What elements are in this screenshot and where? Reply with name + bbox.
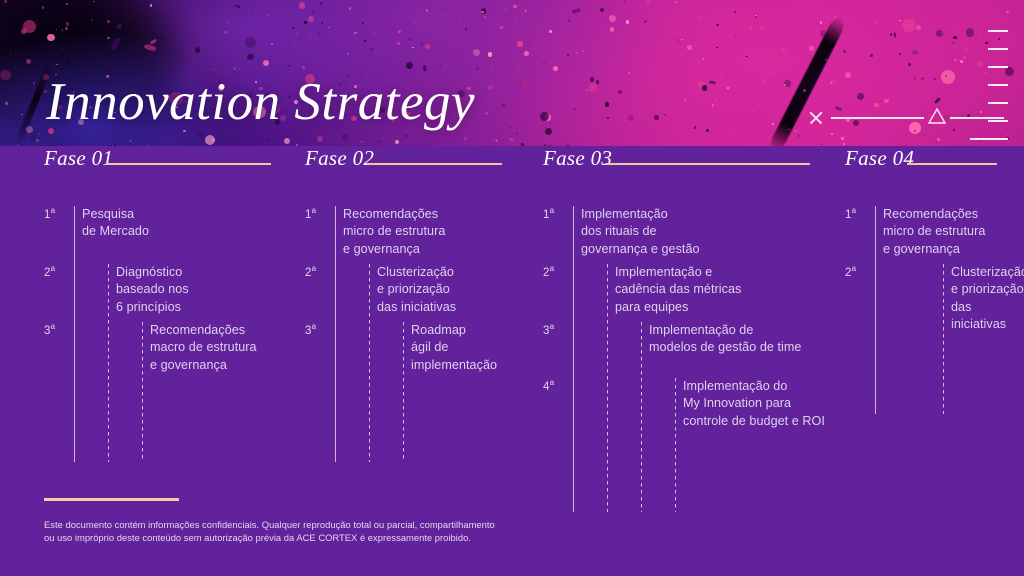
phase-item-ordinal: 2a: [845, 264, 871, 279]
ordinal-number: 2: [543, 267, 550, 279]
ordinal-number: 1: [44, 209, 51, 221]
phase-items: 1aImplementação dos rituais de governanç…: [543, 194, 843, 512]
phase-item: 3aRecomendações macro de estrutura e gov…: [44, 322, 304, 374]
ordinal-suffix: a: [852, 206, 857, 215]
phase-items: 1aRecomendações micro de estrutura e gov…: [845, 194, 1024, 414]
phase-item-text: Recomendações micro de estrutura e gover…: [343, 206, 543, 258]
phase-item: 1aImplementação dos rituais de governanç…: [543, 206, 843, 258]
phase-label: Fase 03: [543, 146, 612, 171]
ordinal-number: 3: [305, 325, 312, 337]
phase-item: 1aRecomendações micro de estrutura e gov…: [305, 206, 543, 258]
ordinal-suffix: a: [312, 322, 317, 331]
phase-item: 2aClusterização e priorização das inicia…: [845, 264, 1024, 334]
ordinal-suffix: a: [312, 264, 317, 273]
tick-marks-icon: [988, 30, 1010, 125]
ordinal-suffix: a: [852, 264, 857, 273]
footer-accent-rule: [44, 498, 179, 501]
phase-header: Fase 02: [305, 146, 543, 182]
phase-item: 1aPesquisa de Mercado: [44, 206, 304, 241]
phase-item-text: Clusterização e priorização das iniciati…: [951, 264, 1024, 334]
phase-column-3: Fase 031aImplementação dos rituais de go…: [543, 146, 843, 512]
ordinal-number: 3: [44, 325, 51, 337]
header-streak-right: [767, 15, 848, 146]
ordinal-suffix: a: [550, 264, 555, 273]
ordinal-number: 3: [543, 325, 550, 337]
phase-label: Fase 01: [44, 146, 113, 171]
ordinal-number: 2: [845, 267, 852, 279]
phase-item-text: Roadmap ágil de implementação: [411, 322, 543, 374]
phase-item: 3aImplementação de modelos de gestão de …: [543, 322, 843, 357]
phase-item: 2aDiagnóstico baseado nos 6 princípios: [44, 264, 304, 316]
phase-item-ordinal: 4a: [543, 378, 569, 393]
phase-header: Fase 04: [845, 146, 1024, 182]
page-title: Innovation Strategy: [46, 76, 475, 129]
phase-item-ordinal: 1a: [305, 206, 331, 221]
ordinal-number: 1: [845, 209, 852, 221]
ordinal-suffix: a: [51, 206, 56, 215]
ordinal-suffix: a: [312, 206, 317, 215]
presentation-slide: Innovation Strategy Fase 011aPesquisa de…: [0, 0, 1024, 576]
phase-column-1: Fase 011aPesquisa de Mercado2aDiagnóstic…: [44, 146, 304, 462]
phase-item-ordinal: 2a: [305, 264, 331, 279]
ordinal-number: 2: [44, 267, 51, 279]
phase-item-text: Clusterização e priorização das iniciati…: [377, 264, 543, 316]
phase-item-text: Recomendações macro de estrutura e gover…: [150, 322, 304, 374]
ordinal-number: 4: [543, 381, 550, 393]
phase-item-ordinal: 1a: [845, 206, 871, 221]
phase-item-ordinal: 2a: [44, 264, 70, 279]
phase-label: Fase 04: [845, 146, 914, 171]
confidentiality-notice: Este documento contém informações confid…: [44, 518, 664, 545]
ordinal-suffix: a: [550, 378, 555, 387]
triangle-outline-icon: [928, 108, 946, 123]
ordinal-number: 2: [305, 267, 312, 279]
phase-rule: [367, 163, 502, 165]
x-mark-icon: [808, 110, 824, 126]
phase-item-text: Pesquisa de Mercado: [82, 206, 304, 241]
phase-item-text: Implementação de modelos de gestão de ti…: [649, 322, 843, 357]
phase-item-ordinal: 3a: [44, 322, 70, 337]
phase-rule: [106, 163, 271, 165]
ordinal-number: 1: [305, 209, 312, 221]
phase-label: Fase 02: [305, 146, 374, 171]
phase-item: 3aRoadmap ágil de implementação: [305, 322, 543, 374]
phase-items: 1aRecomendações micro de estrutura e gov…: [305, 194, 543, 462]
phase-item-text: Recomendações micro de estrutura e gover…: [883, 206, 1024, 258]
phase-rule: [907, 163, 997, 165]
slide-header: Innovation Strategy: [0, 0, 1024, 146]
phase-item-text: Diagnóstico baseado nos 6 princípios: [116, 264, 304, 316]
phase-header: Fase 03: [543, 146, 843, 182]
ordinal-suffix: a: [51, 264, 56, 273]
phase-item-text: Implementação e cadência das métricas pa…: [615, 264, 843, 316]
phase-header: Fase 01: [44, 146, 304, 182]
ordinal-suffix: a: [550, 322, 555, 331]
phase-column-4: Fase 041aRecomendações micro de estrutur…: [845, 146, 1024, 414]
slide-footer: Este documento contém informações confid…: [44, 498, 664, 544]
phase-rule: [605, 163, 810, 165]
phase-column-2: Fase 021aRecomendações micro de estrutur…: [305, 146, 543, 462]
phase-items: 1aPesquisa de Mercado2aDiagnóstico basea…: [44, 194, 304, 462]
ordinal-suffix: a: [51, 322, 56, 331]
phase-item: 4aImplementação do My Innovation para co…: [543, 378, 843, 430]
ordinal-number: 1: [543, 209, 550, 221]
phase-item-ordinal: 1a: [543, 206, 569, 221]
phase-item: 2aImplementação e cadência das métricas …: [543, 264, 843, 316]
phase-item-ordinal: 3a: [305, 322, 331, 337]
phase-columns: Fase 011aPesquisa de Mercado2aDiagnóstic…: [0, 146, 1024, 486]
phase-item: 1aRecomendações micro de estrutura e gov…: [845, 206, 1024, 258]
phase-item: 2aClusterização e priorização das inicia…: [305, 264, 543, 316]
phase-item-ordinal: 1a: [44, 206, 70, 221]
decorative-rule-1: [831, 117, 924, 119]
phase-item-ordinal: 2a: [543, 264, 569, 279]
phase-item-ordinal: 3a: [543, 322, 569, 337]
phase-item-text: Implementação do My Innovation para cont…: [683, 378, 843, 430]
phase-item-text: Implementação dos rituais de governança …: [581, 206, 843, 258]
ordinal-suffix: a: [550, 206, 555, 215]
